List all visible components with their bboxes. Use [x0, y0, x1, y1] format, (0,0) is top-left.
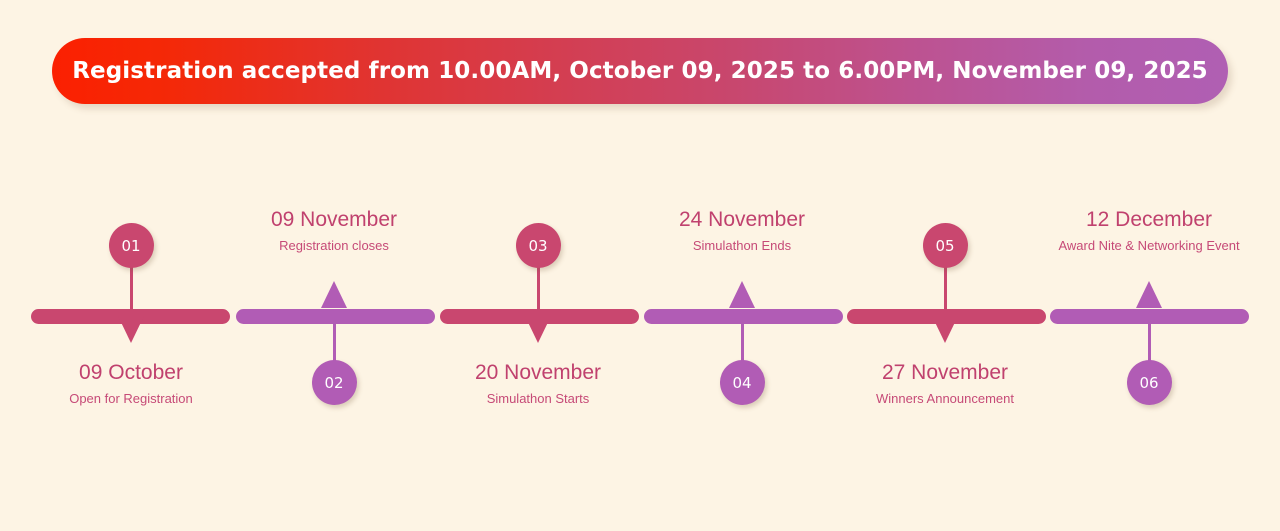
node-description-label: Open for Registration [0, 390, 301, 408]
node-date-label: 09 October [0, 360, 301, 386]
node-labels: 20 NovemberSimulathon Starts [368, 360, 708, 408]
node-date-label: 27 November [775, 360, 1115, 386]
node-number-badge[interactable]: 01 [109, 223, 154, 268]
node-number-badge[interactable]: 03 [516, 223, 561, 268]
node-description-label: Winners Announcement [775, 390, 1115, 408]
node-labels: 27 NovemberWinners Announcement [775, 360, 1115, 408]
node-labels: 09 OctoberOpen for Registration [0, 360, 301, 408]
node-date-label: 12 December [979, 207, 1280, 233]
node-number-badge[interactable]: 04 [720, 360, 765, 405]
node-number-badge[interactable]: 05 [923, 223, 968, 268]
node-stem [537, 262, 540, 317]
node-labels: 24 NovemberSimulathon Ends [572, 207, 912, 255]
node-stem [130, 262, 133, 317]
timeline-segment-2 [236, 309, 435, 324]
node-pointer-triangle-icon [321, 281, 347, 308]
node-pointer-triangle-icon [932, 316, 958, 343]
node-description-label: Simulathon Ends [572, 237, 912, 255]
node-pointer-triangle-icon [1136, 281, 1162, 308]
node-number-badge[interactable]: 06 [1127, 360, 1172, 405]
node-description-label: Registration closes [164, 237, 504, 255]
node-description-label: Simulathon Starts [368, 390, 708, 408]
timeline-segment-4 [644, 309, 843, 324]
node-number-badge[interactable]: 02 [312, 360, 357, 405]
node-date-label: 24 November [572, 207, 912, 233]
node-date-label: 09 November [164, 207, 504, 233]
node-pointer-triangle-icon [525, 316, 551, 343]
node-date-label: 20 November [368, 360, 708, 386]
node-description-label: Award Nite & Networking Event [979, 237, 1280, 255]
node-pointer-triangle-icon [729, 281, 755, 308]
node-stem [944, 262, 947, 317]
node-pointer-triangle-icon [118, 316, 144, 343]
node-labels: 12 DecemberAward Nite & Networking Event [979, 207, 1280, 255]
event-timeline: 0109 OctoberOpen for Registration0209 No… [0, 0, 1280, 531]
node-labels: 09 NovemberRegistration closes [164, 207, 504, 255]
